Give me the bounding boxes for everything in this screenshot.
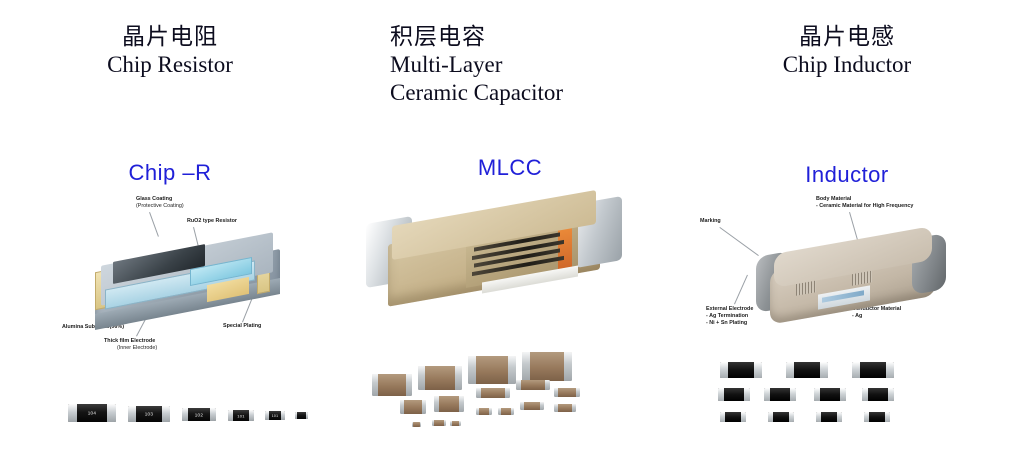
chip-termination-left	[814, 388, 820, 401]
column-mlcc: 积层电容 Multi-Layer Ceramic Capacitor MLCC	[340, 0, 680, 456]
chip-marking: 103	[128, 412, 170, 417]
chip-termination-left	[720, 412, 725, 422]
chip-termination-right	[455, 366, 462, 390]
chip-termination-right	[790, 388, 796, 401]
leader-line-glass-coating	[149, 212, 159, 237]
chip-termination-right	[540, 402, 544, 410]
list-item: 103	[128, 406, 170, 422]
chip-termination-right	[754, 362, 762, 378]
list-item	[418, 366, 462, 390]
leader-line-marking	[719, 227, 758, 256]
chip-termination-right	[505, 388, 510, 398]
chip-termination-left	[476, 388, 481, 398]
chip-resistor-photos: 104 103 102 101	[62, 398, 312, 434]
chip-termination-left	[498, 408, 501, 415]
chip-termination-left	[295, 412, 297, 419]
list-item	[295, 412, 308, 419]
chip-termination-left	[554, 404, 558, 412]
chip-termination-right	[576, 388, 580, 397]
slide-root: 晶片电阻 Chip Resistor Chip –R Glass Coating…	[0, 0, 1014, 456]
list-item	[522, 352, 572, 381]
subtitle-mlcc: MLCC	[340, 155, 680, 181]
chip-termination-right	[885, 412, 890, 422]
mlcc-cutaway-figure	[362, 198, 642, 328]
chip-termination-right	[744, 388, 750, 401]
leader-line-external-electrode	[734, 275, 748, 305]
list-item: 101	[228, 410, 254, 421]
chip-termination-right	[511, 408, 514, 415]
label-marking: Marking	[700, 218, 721, 225]
heading-english-line2: Ceramic Capacitor	[390, 79, 630, 107]
label-body-material: Body Material - Ceramic Material for Hig…	[816, 196, 913, 210]
chip-termination-right	[820, 362, 828, 378]
chip-termination-right	[444, 420, 446, 426]
column-chip-resistor: 晶片电阻 Chip Resistor Chip –R Glass Coating…	[0, 0, 340, 456]
chip-termination-left	[768, 412, 773, 422]
chip-termination-right	[741, 412, 746, 422]
chip-termination-right	[888, 388, 894, 401]
list-item	[720, 412, 746, 422]
list-item	[372, 374, 412, 396]
chip-termination-right	[789, 412, 794, 422]
chip-termination-left	[418, 366, 425, 390]
heading-chinese: 积层电容	[390, 22, 630, 51]
chip-termination-left	[522, 352, 530, 381]
chip-resistor-3d-art	[95, 241, 280, 321]
chip-marking: 101	[228, 413, 254, 418]
chip-termination-right	[837, 412, 842, 422]
chip-marking: 101	[265, 414, 285, 418]
list-item	[554, 404, 576, 412]
list-item	[412, 422, 421, 427]
list-item: 104	[68, 404, 116, 422]
chip-inductor-cutaway-figure: Marking Body Material - Ceramic Material…	[698, 190, 988, 340]
chip-termination-left	[852, 362, 860, 378]
heading-chinese: 晶片电感	[680, 22, 1014, 51]
list-item	[852, 362, 894, 378]
list-item	[554, 388, 580, 397]
list-item: 101	[265, 411, 285, 420]
list-item	[520, 402, 544, 410]
list-item	[816, 412, 842, 422]
list-item	[434, 396, 464, 412]
chip-termination-left	[400, 400, 404, 414]
list-item	[786, 362, 828, 378]
subtitle-inductor: Inductor	[680, 162, 1014, 188]
list-item	[862, 388, 894, 401]
chip-termination-left	[554, 388, 558, 397]
chip-termination-right	[564, 352, 572, 381]
label-ruo2-resistor: RuO2 type Resistor	[187, 218, 237, 225]
list-item	[814, 388, 846, 401]
label-glass-coating: Glass Coating (Protective Coating)	[136, 196, 184, 210]
label-thick-film-electrode: Thick film Electrode (Inner Electrode)	[104, 338, 157, 352]
chip-termination-right	[886, 362, 894, 378]
list-item	[498, 408, 514, 415]
chip-termination-right	[459, 396, 464, 412]
chip-resistor-cutaway-figure: Glass Coating (Protective Coating) RuO2 …	[60, 196, 310, 346]
list-item	[432, 420, 446, 426]
list-item	[468, 356, 516, 384]
list-item	[450, 421, 461, 426]
chip-termination-left	[720, 362, 728, 378]
list-item	[768, 412, 794, 422]
heading-english: Chip Resistor	[0, 51, 340, 79]
heading-chip-inductor: 晶片电感 Chip Inductor	[680, 22, 1014, 79]
list-item	[764, 388, 796, 401]
chip-termination-left	[864, 412, 869, 422]
chip-inductor-3d-art	[756, 234, 946, 320]
chip-termination-left	[372, 374, 378, 396]
chip-marking: 104	[68, 411, 116, 416]
label-special-plating: Special Plating	[223, 323, 261, 330]
chip-termination-right	[420, 422, 421, 427]
chip-termination-right	[406, 374, 412, 396]
list-item: 102	[182, 408, 216, 421]
chip-termination-left	[450, 421, 452, 426]
list-item	[718, 388, 750, 401]
chip-marking: 102	[182, 412, 216, 417]
heading-chip-resistor: 晶片电阻 Chip Resistor	[0, 22, 340, 79]
chip-termination-right	[422, 400, 426, 414]
chip-termination-right	[489, 408, 492, 415]
list-item	[476, 408, 492, 415]
label-external-electrode: External Electrode - Ag Termination - Ni…	[706, 306, 753, 327]
chip-termination-left	[718, 388, 724, 401]
chip-termination-left	[816, 412, 821, 422]
chip-termination-left	[516, 380, 521, 390]
list-item	[864, 412, 890, 422]
list-item	[400, 400, 426, 414]
subtitle-chip-r: Chip –R	[0, 160, 340, 186]
column-chip-inductor: 晶片电感 Chip Inductor Inductor Marking Body…	[680, 0, 1014, 456]
chip-termination-right	[840, 388, 846, 401]
chip-termination-right	[306, 412, 308, 419]
list-item	[720, 362, 762, 378]
heading-chinese: 晶片电阻	[0, 22, 340, 51]
chip-termination-left	[476, 408, 479, 415]
list-item	[516, 380, 550, 390]
list-item	[476, 388, 510, 398]
chip-termination-left	[786, 362, 794, 378]
heading-english: Chip Inductor	[680, 51, 1014, 79]
mlcc-photos	[350, 336, 610, 436]
chip-termination-left	[764, 388, 770, 401]
chip-termination-left	[862, 388, 868, 401]
chip-termination-right	[572, 404, 576, 412]
heading-english-line1: Multi-Layer	[390, 51, 630, 79]
chip-termination-right	[459, 421, 461, 426]
chip-termination-left	[520, 402, 524, 410]
chip-inductor-photos	[702, 358, 992, 438]
chip-termination-left	[434, 396, 439, 412]
chip-termination-left	[468, 356, 476, 384]
heading-mlcc: 积层电容 Multi-Layer Ceramic Capacitor	[340, 22, 630, 107]
chip-termination-right	[545, 380, 550, 390]
chip-termination-right	[508, 356, 516, 384]
chip-termination-left	[432, 420, 434, 426]
